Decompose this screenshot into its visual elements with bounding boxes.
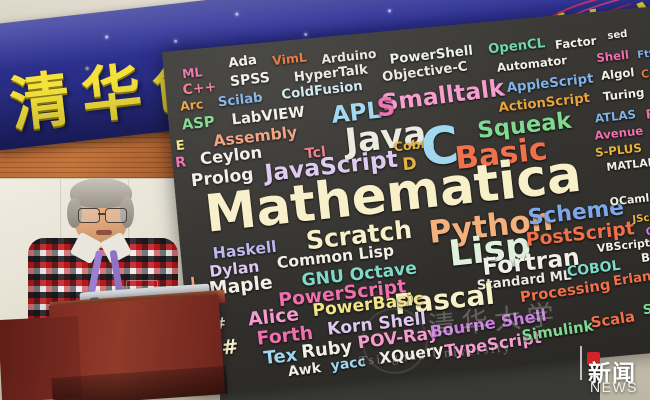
glasses-lens-right (105, 208, 127, 223)
word-cloud-term: OCaml (609, 194, 650, 209)
word-cloud-term: Ceylon (199, 145, 263, 168)
word-cloud-term: E (175, 139, 185, 153)
word-cloud-term: SAS (642, 300, 650, 317)
word-cloud-term: ATLAS (594, 109, 636, 125)
word-cloud-term: MATLAB (606, 157, 650, 173)
word-cloud-term: VimL (271, 52, 307, 68)
word-cloud-term: C++ (181, 79, 216, 97)
word-cloud-term: Factor (554, 36, 597, 52)
word-cloud-term: Automator (496, 55, 567, 74)
word-cloud-term: Turing (602, 87, 645, 103)
mouth (96, 230, 112, 235)
word-cloud-term: ASP (181, 115, 215, 133)
word-cloud-board: MLAdaVimLArduinoC++SPSSHyperTalkPowerShe… (162, 6, 650, 396)
news-logo-english: NEWS (590, 379, 638, 395)
word-cloud-term: R (175, 155, 187, 170)
word-cloud-term: Shell (595, 49, 629, 64)
word-cloud-term: Coq (640, 68, 650, 81)
glasses-lens-left (78, 208, 100, 223)
word-cloud-term: JScript (632, 211, 650, 225)
news-logo: 新闻 NEWS (588, 354, 646, 396)
word-cloud-term: sed (607, 30, 628, 42)
glasses-icon (78, 208, 128, 221)
word-cloud-term: SPSS (229, 71, 270, 89)
glasses-bridge (98, 213, 105, 215)
word-cloud-term: Arc (180, 99, 204, 114)
word-cloud-term: Scala (590, 310, 636, 331)
photo-scene: 清华创客日 国际创客教育交流 MLAdaVimLArduinoC++SPSSHy… (0, 0, 650, 400)
word-cloud-term: Algol (600, 67, 635, 82)
word-cloud-term: PHP (646, 105, 650, 121)
word-cloud-term: OpenCL (488, 37, 546, 56)
word-cloud-term: Bash (641, 249, 650, 265)
word-cloud-term: Ada (227, 54, 257, 71)
word-cloud-term: Ftt (637, 49, 650, 61)
news-logo-bar (580, 346, 582, 380)
word-cloud-term: ML (182, 66, 204, 81)
word-cloud-term: Awk (287, 361, 322, 379)
word-cloud-term: Scilab (218, 91, 264, 109)
